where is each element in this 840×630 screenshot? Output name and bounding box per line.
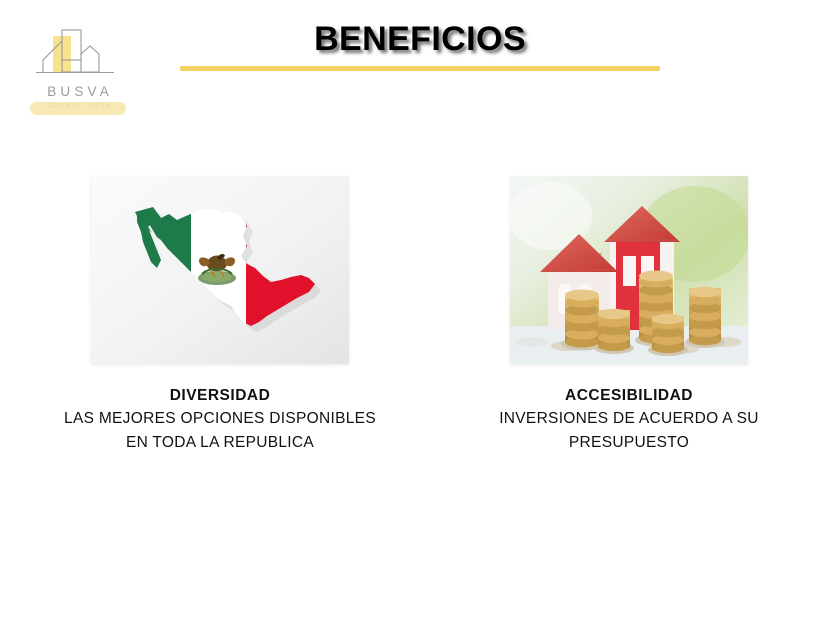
slide-canvas: BUSVA CONSULTORIA BENEFICIOS	[0, 0, 840, 630]
benefit-caption-diversidad: DIVERSIDAD LAS MEJORES OPCIONES DISPONIB…	[18, 384, 422, 455]
benefit-heading: DIVERSIDAD	[18, 384, 422, 407]
benefit-description-line-2: PRESUPUESTO	[434, 431, 824, 455]
benefit-column-diversidad: DIVERSIDAD LAS MEJORES OPCIONES DISPONIB…	[18, 176, 422, 455]
title-underline-rule	[180, 66, 660, 71]
logo-tagline: CONSULTORIA	[30, 103, 126, 109]
building-outline-icon	[28, 28, 128, 86]
benefit-description-line-1: LAS MEJORES OPCIONES DISPONIBLES	[18, 407, 422, 431]
benefit-description-line-1: INVERSIONES DE ACUERDO A SU	[434, 407, 824, 431]
mexico-map-image	[91, 176, 349, 364]
company-logo: BUSVA CONSULTORIA	[28, 28, 128, 120]
house-coins-image	[510, 176, 748, 364]
logo-wordmark: BUSVA	[28, 84, 128, 99]
benefit-heading: ACCESIBILIDAD	[434, 384, 824, 407]
benefit-description-line-2: EN TODA LA REPUBLICA	[18, 431, 422, 455]
logo-tagline-highlight: CONSULTORIA	[30, 102, 126, 115]
benefit-caption-accesibilidad: ACCESIBILIDAD INVERSIONES DE ACUERDO A S…	[434, 384, 824, 455]
benefit-column-accesibilidad: ACCESIBILIDAD INVERSIONES DE ACUERDO A S…	[434, 176, 824, 455]
slide-title: BENEFICIOS	[180, 20, 660, 59]
